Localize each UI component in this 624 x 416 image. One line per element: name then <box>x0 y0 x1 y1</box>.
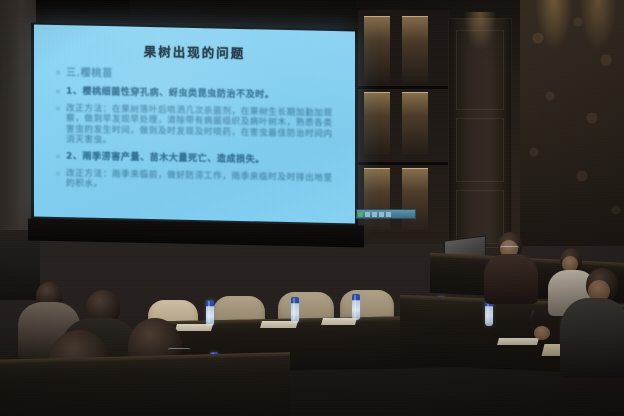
presentation-control-bar[interactable] <box>356 209 416 219</box>
bullet-marker-icon <box>56 70 60 74</box>
water-bottle <box>352 294 360 320</box>
pointer-icon[interactable] <box>372 212 377 217</box>
wall-niche-light <box>402 92 428 154</box>
conference-table <box>0 352 290 416</box>
hand <box>534 326 550 340</box>
slide-bullet: 改正方法：在果树落叶后喷洒几次杀菌剂，在果树生长期加勤加观察，做到早发现早处理，… <box>56 103 341 150</box>
slide-bullet-text: 三.樱桃苗 <box>66 68 341 85</box>
paper-sheet <box>321 318 357 325</box>
slide-menu-icon[interactable] <box>379 212 384 217</box>
next-slide-icon[interactable] <box>386 212 391 217</box>
paper-sheet <box>260 321 298 328</box>
projection-screen: 果树出现的问题 三.樱桃苗 1、樱桃细菌性穿孔病、蚜虫类昆虫防治不及时。 改正方… <box>34 24 355 223</box>
slide-bullet: 改正方法：雨季来临前，做好防涝工作，雨季来临时及时排出地里的积水。 <box>56 168 341 194</box>
patterned-wallpaper <box>520 0 624 246</box>
wall-niche-light <box>402 168 428 230</box>
prev-slide-icon[interactable] <box>358 212 363 217</box>
water-bottle <box>291 297 299 323</box>
slide-bullet: 2、雨季涝害产量、苗木大量死亡、造成损失。 <box>56 151 341 167</box>
paper-sheet <box>175 324 213 331</box>
slide-bullet: 1、樱桃细菌性穿孔病、蚜虫类昆虫防治不及时。 <box>56 86 341 102</box>
slide-bullet-text: 1、樱桃细菌性穿孔病、蚜虫类昆虫防治不及时。 <box>66 87 341 103</box>
slide-body: 三.樱桃苗 1、樱桃细菌性穿孔病、蚜虫类昆虫防治不及时。 改正方法：在果树落叶后… <box>56 67 341 200</box>
bullet-marker-icon <box>56 154 60 158</box>
pen-tool-icon[interactable] <box>365 212 370 217</box>
scene-description: Dimly lit seminar room with a projected … <box>0 408 624 416</box>
column-spotlight-glow <box>448 12 512 92</box>
wall-niche-light <box>364 16 390 82</box>
paper-sheet <box>497 338 539 345</box>
wall-niche-light <box>364 168 390 230</box>
slide-bullet-text: 2、雨季涝害产量、苗木大量死亡、造成损失。 <box>66 151 341 167</box>
wall-niche-light <box>364 92 390 154</box>
bullet-marker-icon <box>56 106 60 110</box>
slide-bullet-text: 改正方法：在果树落叶后喷洒几次杀菌剂，在果树生长期加勤加观察，做到早发现早处理，… <box>66 104 341 151</box>
water-bottle <box>206 300 214 326</box>
conference-room-photo: 果树出现的问题 三.樱桃苗 1、樱桃细菌性穿孔病、蚜虫类昆虫防治不及时。 改正方… <box>0 0 624 416</box>
slide-bullet-text: 改正方法：雨季来临前，做好防涝工作，雨季来临时及时排出地里的积水。 <box>66 168 341 194</box>
wall-niche-light <box>402 16 428 82</box>
bullet-marker-icon <box>56 171 60 175</box>
bullet-marker-icon <box>56 89 60 93</box>
slide-title: 果树出现的问题 <box>34 39 355 64</box>
slide-bullet: 三.樱桃苗 <box>56 67 341 84</box>
